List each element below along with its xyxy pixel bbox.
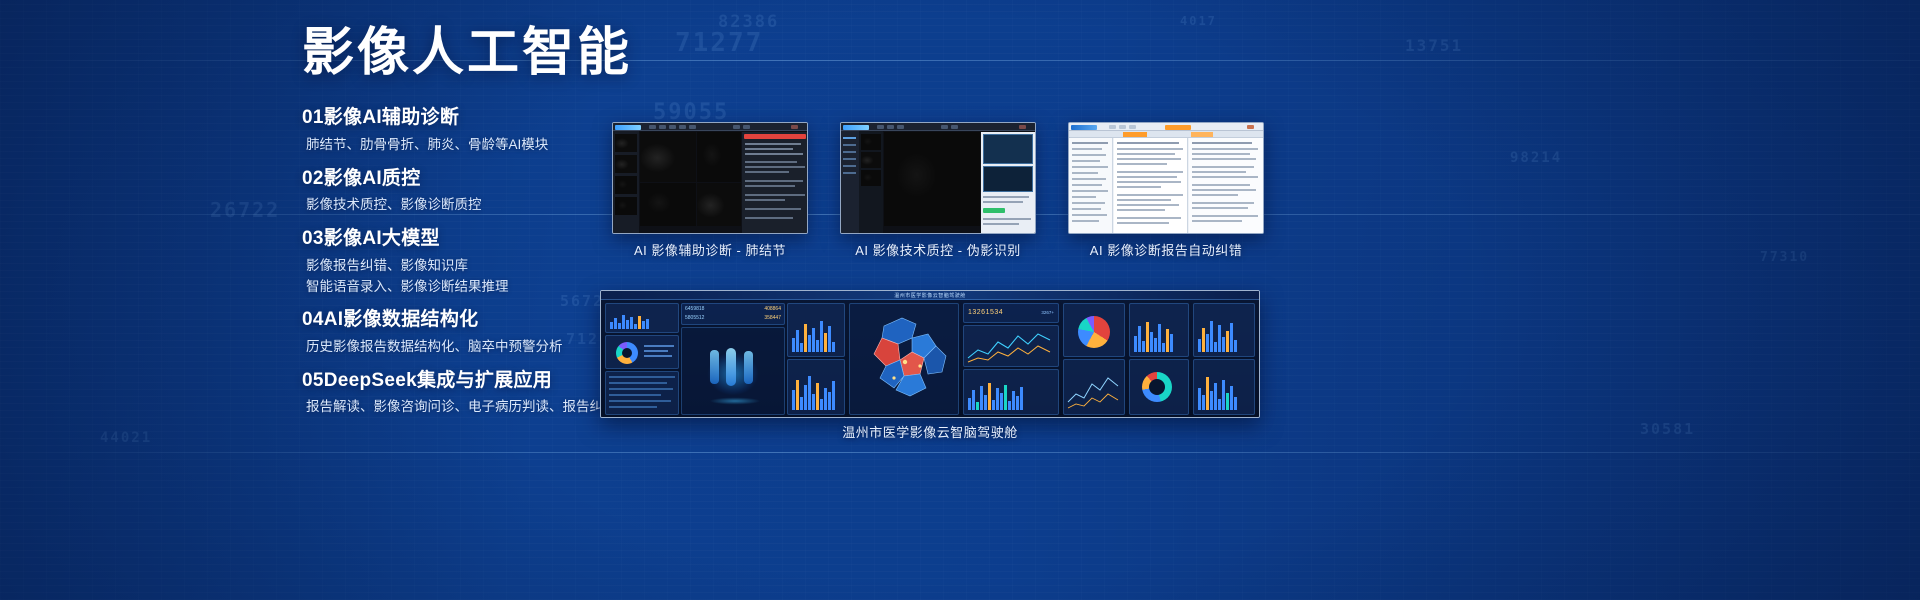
dashboard-card-donut-1[interactable] [605,335,679,369]
dashboard-card-pie-1[interactable] [1063,303,1125,357]
dashboard-card-bars-4[interactable] [1129,303,1189,357]
close-icon[interactable] [1247,125,1254,129]
toolbar-button[interactable] [733,125,740,129]
app-titlebar [1069,123,1263,131]
toolbar-button[interactable] [877,125,884,129]
tab-strip[interactable] [1069,131,1263,138]
toolbar-button[interactable] [743,125,750,129]
screenshot-caption-1: AI 影像辅助诊断 - 肺结节 [612,240,808,259]
ct-view-axial[interactable] [640,132,696,182]
app-logo-icon [843,125,869,130]
report-text-panel[interactable] [1114,138,1188,233]
dashboard-card-bars-6[interactable] [1193,359,1255,415]
dashboard-titlebar: 温州市医学影像云智脑驾驶舱 [601,291,1259,300]
toolbar-button[interactable] [649,125,656,129]
kpi-value: 5805512 [685,315,704,321]
toolbar-button[interactable] [679,125,686,129]
dashboard-card-bars-5[interactable] [1193,303,1255,357]
dashboard-kpi-group-left[interactable]: 6459818 5805512 408864 358447 [681,303,785,325]
dashboard-card-bars-2[interactable] [787,359,845,415]
screenshot-cloud-dashboard[interactable]: 温州市医学影像云智脑驾驶舱 6459818 5805512 408864 358… [600,290,1260,418]
ct-view-mip[interactable] [697,183,741,226]
dashboard-region-map[interactable] [849,303,959,415]
screenshot-ai-quality-control[interactable] [840,122,1036,234]
toolbar-button[interactable] [887,125,894,129]
toolbar-button[interactable] [1119,125,1126,129]
toolbar-button[interactable] [897,125,904,129]
dashboard-card-bars-1[interactable] [787,303,845,357]
screenshot-ai-diagnosis[interactable] [612,122,808,234]
toolbar-button[interactable] [1109,125,1116,129]
kpi-value: 408864 [764,306,781,312]
toolbar-button[interactable] [689,125,696,129]
series-list[interactable] [859,131,883,233]
correction-suggestion-panel[interactable] [1189,138,1263,233]
worklist-panel[interactable] [1069,138,1113,233]
toolbar-button[interactable] [951,125,958,129]
dashboard-human-body-visual[interactable] [681,327,785,415]
tool-rail[interactable] [841,131,859,233]
map-icon [850,304,960,416]
dashboard-card-table-1[interactable] [605,371,679,415]
ct-view-sagittal[interactable] [640,183,696,226]
app-logo-icon [615,125,641,130]
ct-view-coronal[interactable] [697,132,741,182]
dashboard-caption: 温州市医学影像云智脑驾驶舱 [600,422,1260,441]
line-chart-icon [1064,360,1126,416]
dashboard-card-kpi-1[interactable] [605,303,679,333]
qc-results-panel[interactable] [981,132,1035,233]
toolbar-button[interactable] [1129,125,1136,129]
dashboard-card-line-1[interactable] [963,325,1059,367]
close-icon[interactable] [791,125,798,129]
toolbar-button[interactable] [669,125,676,129]
app-titlebar [841,123,1035,131]
ct-main-view[interactable] [884,132,980,226]
dashboard-card-bars-3[interactable] [963,369,1059,415]
findings-panel[interactable] [742,132,807,233]
app-logo-icon [1071,125,1097,130]
feature-item-03[interactable]: 03影像AI大模型 影像报告纠错、影像知识库 智能语音录入、影像诊断结果推理 [302,225,722,297]
screenshot-report-correction[interactable] [1068,122,1264,234]
toolbar-button[interactable] [659,125,666,129]
kpi-value: 6459818 [685,306,704,312]
dashboard-card-line-2[interactable] [1063,359,1125,415]
page-title: 影像人工智能 [302,24,722,82]
app-titlebar [613,123,807,131]
dashboard-title: 温州市医学影像云智脑驾驶舱 [894,292,966,299]
line-chart-icon [964,326,1060,368]
kpi-main-value: 13261534 [968,309,1003,316]
dashboard-card-donut-2[interactable] [1129,359,1189,415]
thumbnail-strip[interactable] [613,131,639,233]
kpi-sub-value: 3267+ [1041,310,1054,315]
screenshot-caption-2: AI 影像技术质控 - 伪影识别 [840,240,1036,259]
toolbar-button[interactable] [941,125,948,129]
close-icon[interactable] [1019,125,1026,129]
kpi-value: 358447 [764,315,781,321]
dashboard-kpi-main[interactable]: 13261534 3267+ [963,303,1059,323]
highlight-tab[interactable] [1165,125,1191,130]
screenshot-caption-3: AI 影像诊断报告自动纠错 [1068,240,1264,259]
